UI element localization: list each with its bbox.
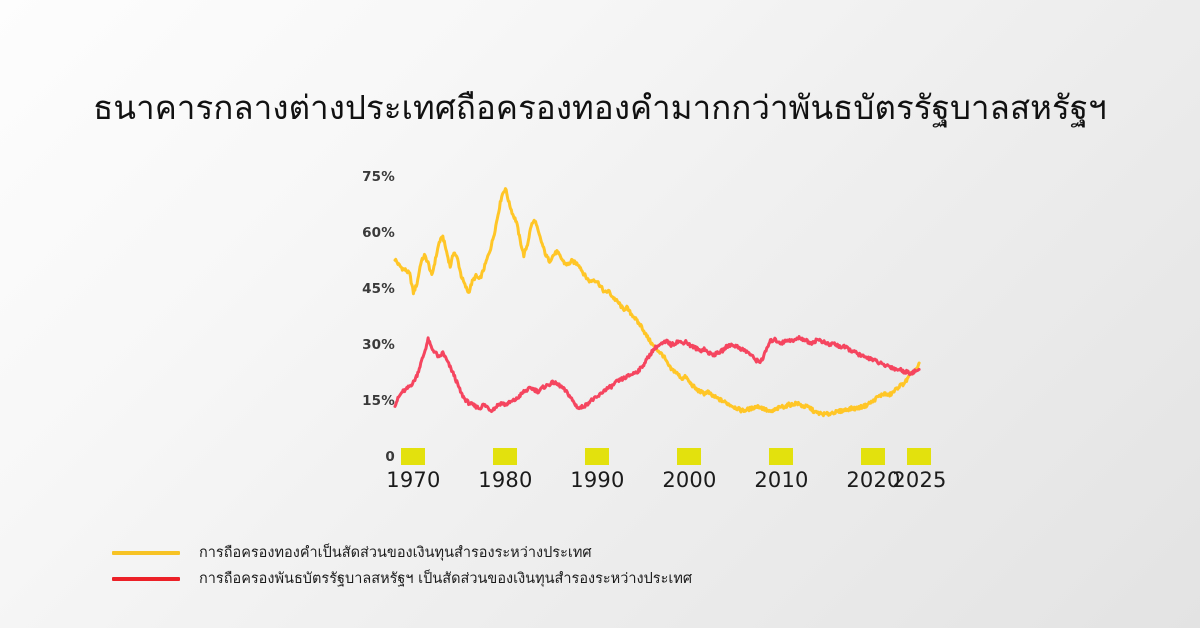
- legend-color-swatch: [112, 577, 180, 581]
- y-axis-tick-60: 60%: [362, 225, 395, 241]
- x-tick-marker-square: [861, 448, 885, 465]
- y-axis-tick-75: 75%: [362, 169, 395, 185]
- x-tick-marker-square: [677, 448, 701, 465]
- x-axis-tick-1970: 1970: [378, 448, 448, 492]
- plot-area: 75%60%45%30%15%0: [355, 160, 925, 470]
- y-axis: 75%60%45%30%15%0: [355, 160, 395, 470]
- chart-page: ธนาคารกลางต่างประเทศถือครองทองคำมากกว่าพ…: [0, 0, 1200, 628]
- series-line-gold: [395, 189, 919, 416]
- x-tick-marker-square: [585, 448, 609, 465]
- x-tick-marker-square: [769, 448, 793, 465]
- x-axis-tick-label: 1970: [378, 468, 448, 492]
- legend-item-us-treasuries[interactable]: การถือครองพันธบัตรรัฐบาลสหรัฐฯ เป็นสัดส่…: [112, 568, 1012, 590]
- line-chart-svg: [395, 160, 925, 470]
- x-axis-tick-2000: 2000: [654, 448, 724, 492]
- series-line-us-treasuries: [395, 337, 919, 412]
- x-axis-tick-label: 1980: [470, 468, 540, 492]
- x-tick-marker-square: [493, 448, 517, 465]
- page-title: ธนาคารกลางต่างประเทศถือครองทองคำมากกว่าพ…: [0, 88, 1200, 128]
- x-tick-marker-square: [907, 448, 931, 465]
- legend-item-gold[interactable]: การถือครองทองคำเป็นสัดส่วนของเงินทุนสำรอ…: [112, 542, 1012, 564]
- x-axis-tick-label: 2000: [654, 468, 724, 492]
- chart-legend: การถือครองทองคำเป็นสัดส่วนของเงินทุนสำรอ…: [112, 542, 1012, 594]
- x-axis-tick-1980: 1980: [470, 448, 540, 492]
- y-axis-tick-45: 45%: [362, 281, 395, 297]
- x-axis: 1970198019902000201020202025: [355, 448, 925, 498]
- x-axis-tick-2025: 2025: [884, 448, 954, 492]
- legend-color-swatch: [112, 551, 180, 555]
- x-axis-tick-label: 2010: [746, 468, 816, 492]
- x-axis-tick-label: 1990: [562, 468, 632, 492]
- x-axis-tick-1990: 1990: [562, 448, 632, 492]
- x-axis-tick-label: 2025: [884, 468, 954, 492]
- y-axis-tick-15: 15%: [362, 393, 395, 409]
- legend-label: การถือครองพันธบัตรรัฐบาลสหรัฐฯ เป็นสัดส่…: [199, 569, 692, 589]
- chart-canvas: [395, 160, 925, 470]
- legend-label: การถือครองทองคำเป็นสัดส่วนของเงินทุนสำรอ…: [199, 543, 592, 563]
- x-tick-marker-square: [401, 448, 425, 465]
- x-axis-tick-2010: 2010: [746, 448, 816, 492]
- y-axis-tick-30: 30%: [362, 337, 395, 353]
